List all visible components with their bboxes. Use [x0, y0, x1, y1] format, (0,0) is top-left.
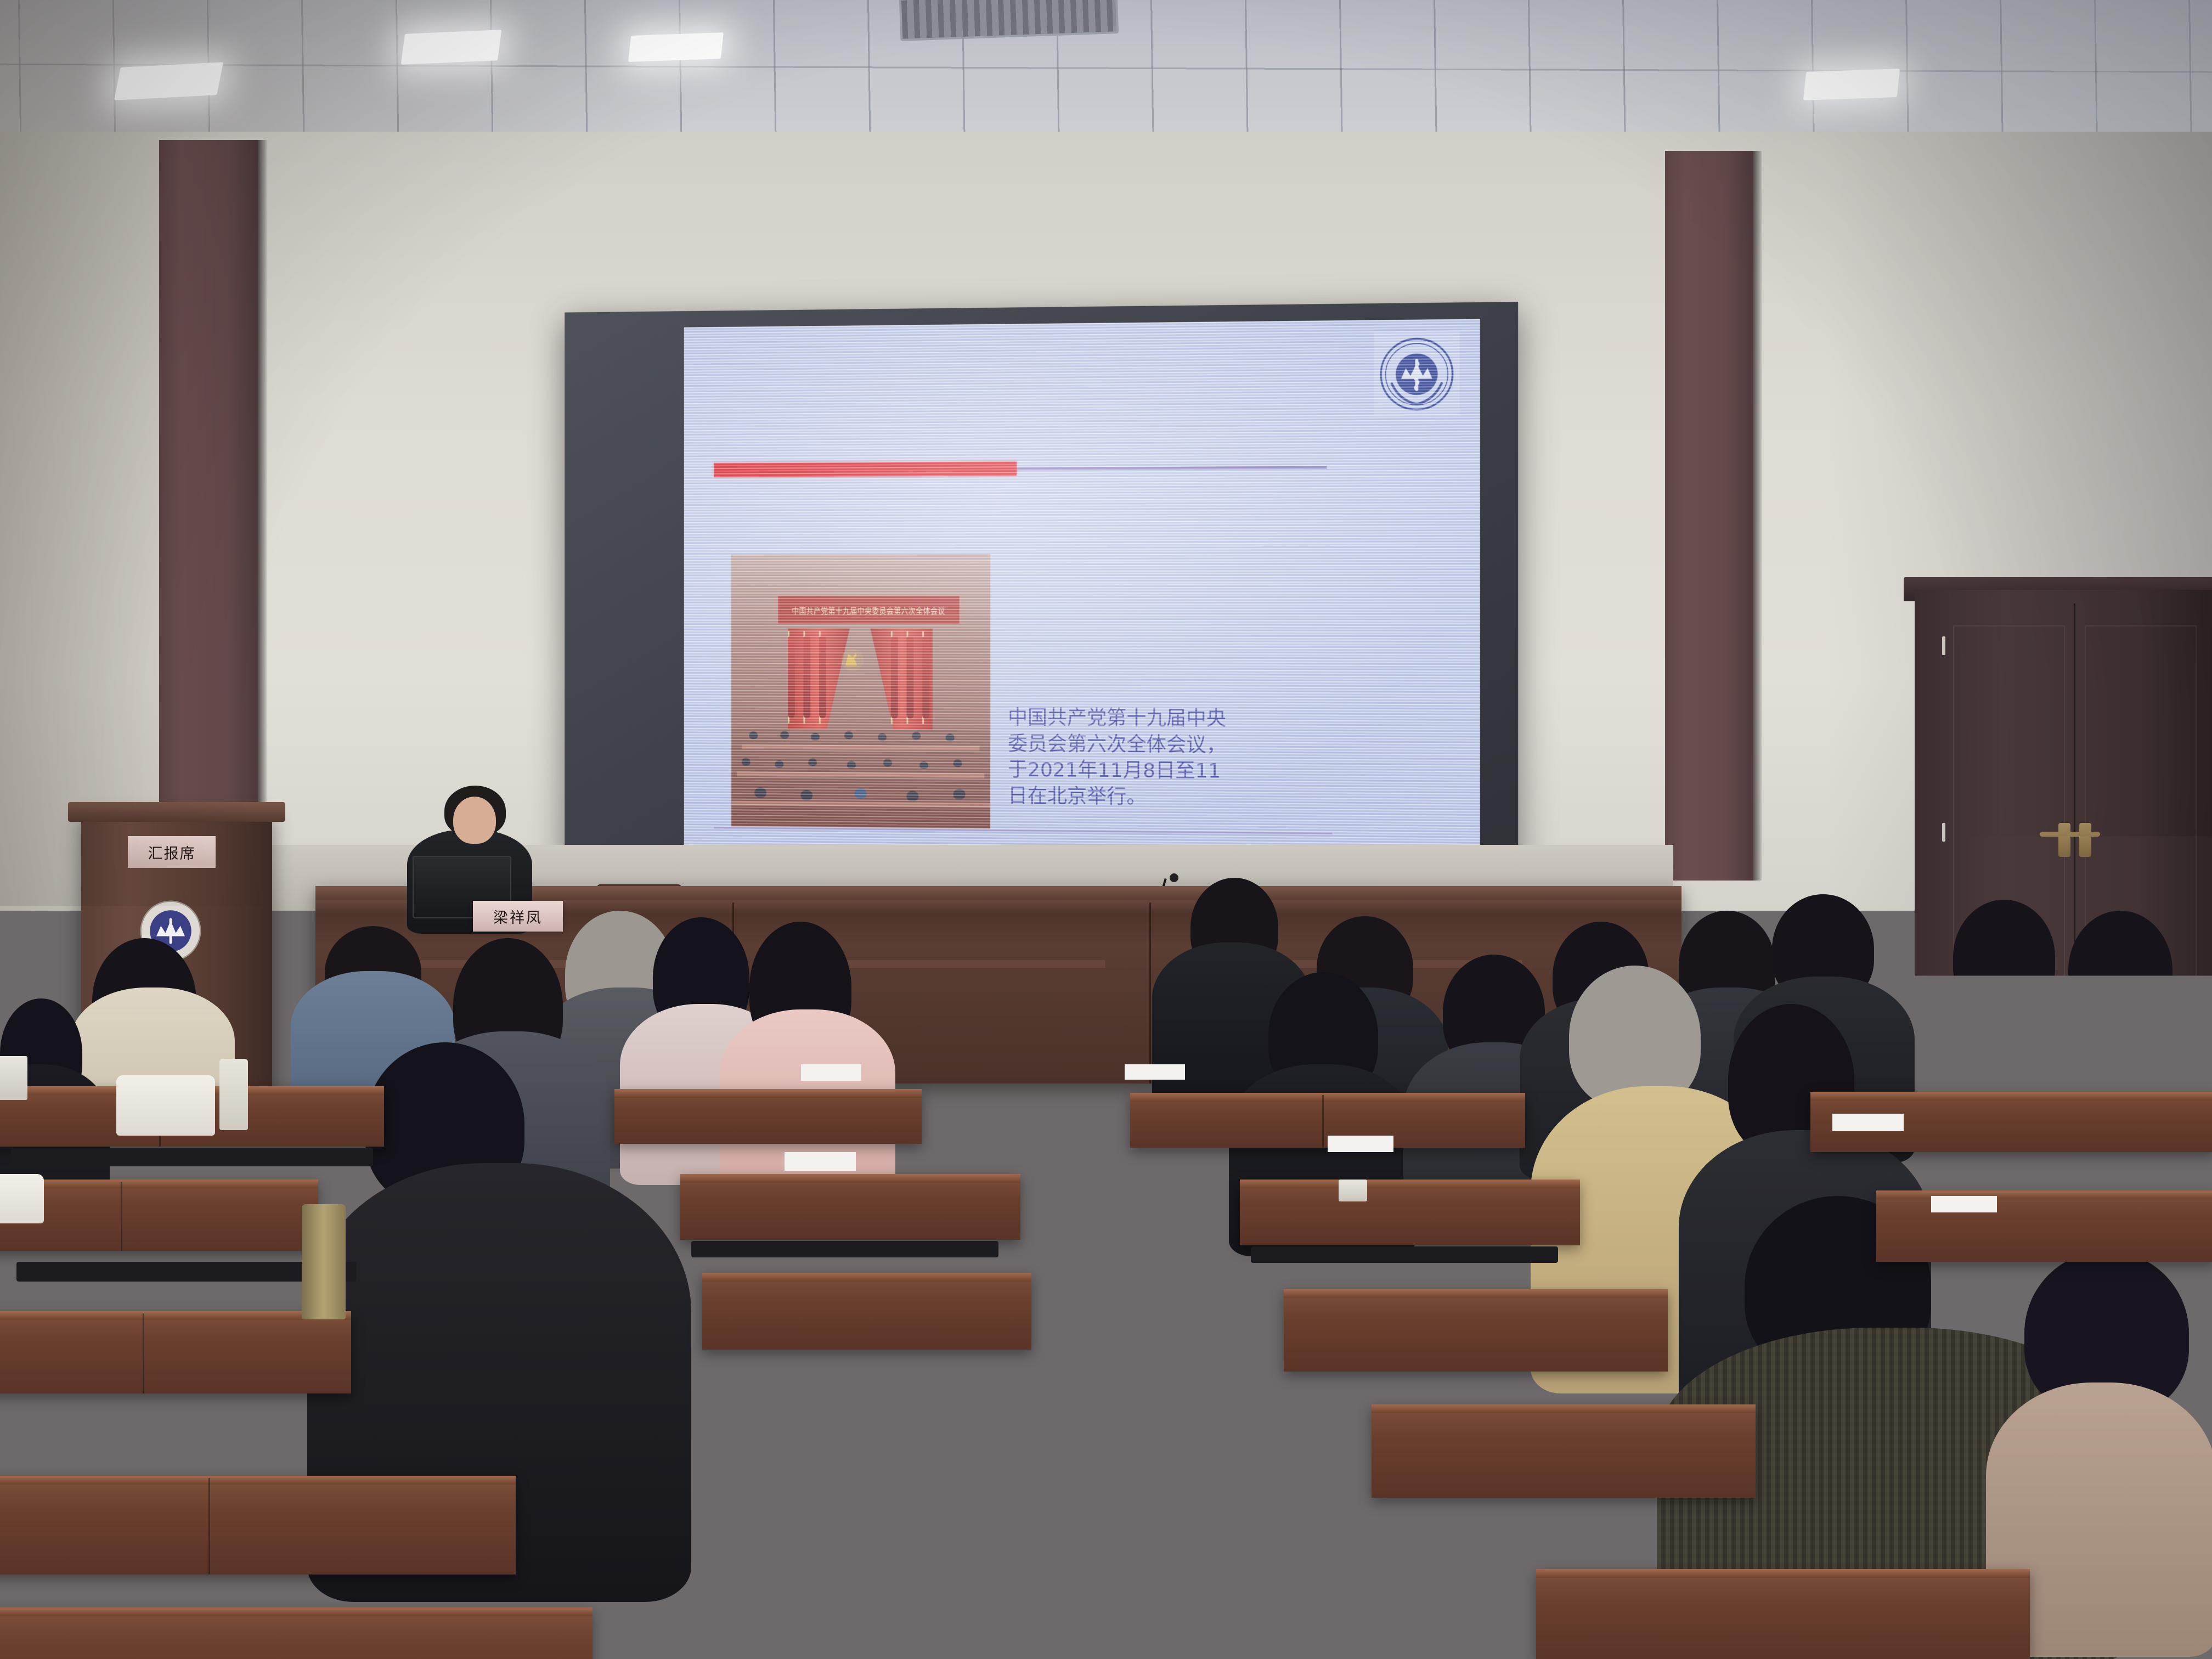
desk-row2-right	[1240, 1180, 1580, 1245]
paper-cup[interactable]	[1339, 1180, 1367, 1201]
paper-sheet[interactable]	[1931, 1196, 1997, 1212]
plastic-bag[interactable]	[0, 1174, 44, 1223]
photo-stage-backdrop	[731, 555, 990, 735]
desk-row2-mid	[680, 1174, 1020, 1240]
door-hinge-top	[1942, 636, 1945, 655]
presenter-nameplate: 梁祥凤	[473, 901, 563, 932]
green-notebook[interactable]	[1503, 1344, 1602, 1404]
desk-row5-left	[0, 1607, 592, 1659]
door-hinge-bottom	[1942, 823, 1945, 842]
desk-rail-4	[1251, 1246, 1558, 1263]
photo-banner: 中国共产党第十九届中央委员会第六次全体会议	[777, 596, 960, 624]
desk-row1-mid	[614, 1089, 922, 1144]
thermos-flask[interactable]	[302, 1204, 346, 1319]
slide-footer-rule	[714, 827, 1332, 835]
paper-cup[interactable]	[0, 1056, 27, 1100]
microphone-head	[1170, 873, 1178, 882]
paper-sheet[interactable]	[1328, 1136, 1393, 1152]
photo-banner-text: 中国共产党第十九届中央委员会第六次全体会议	[792, 604, 945, 616]
ceiling-light-1	[114, 62, 223, 100]
slide-body-text: 中国共产党第十九届中央委员会第六次全体会议，于2021年11月8日至11日在北京…	[1008, 705, 1239, 811]
paper-sheet[interactable]	[1832, 1114, 1904, 1131]
water-bottle[interactable]	[219, 1059, 248, 1130]
desk-row3-right	[1284, 1289, 1668, 1372]
desk-row3-mid	[702, 1273, 1031, 1350]
slide-photo-plenary-session: 中国共产党第十九届中央委员会第六次全体会议	[731, 554, 990, 829]
projection-screen-frame: 中国共产党第十九届中央委员会第六次全体会议	[565, 302, 1518, 883]
photo-audience	[731, 729, 990, 828]
paper-sheet[interactable]	[1125, 1064, 1185, 1080]
desk-row3-left	[0, 1311, 351, 1393]
ceiling-light-2	[401, 30, 502, 65]
wall-pillar-right	[1665, 151, 1753, 881]
hammer-and-sickle-emblem	[840, 647, 865, 673]
plastic-bag[interactable]	[116, 1075, 215, 1136]
ceiling-light-3	[628, 32, 724, 62]
desk-rail-1	[11, 1148, 373, 1166]
desk-rail-3	[691, 1241, 998, 1257]
desk-row4-right	[1372, 1404, 1756, 1498]
lecture-hall-photo: 中国共产党第十九届中央委员会第六次全体会议	[0, 0, 2212, 1659]
door-handle-left[interactable]	[2058, 823, 2070, 857]
door-handle-right[interactable]	[2079, 823, 2091, 857]
podium-sign: 汇报席	[128, 836, 216, 868]
projection-screen: 中国共产党第十九届中央委员会第六次全体会议	[684, 319, 1480, 855]
slide-accent-bar	[714, 461, 1017, 477]
desk-row2-left	[0, 1180, 318, 1251]
paper-sheet[interactable]	[785, 1152, 856, 1171]
ceiling-light-4	[1803, 69, 1900, 100]
desk-row5-right	[1536, 1569, 2030, 1659]
paper-sheet[interactable]	[801, 1064, 861, 1081]
wall-pillar-left	[159, 140, 258, 875]
anhui-university-of-chinese-medicine-emblem	[1374, 331, 1459, 417]
podium-top-surface	[68, 802, 285, 822]
desk-row4-left	[0, 1476, 516, 1575]
desk-row2-far-right	[1876, 1190, 2212, 1262]
